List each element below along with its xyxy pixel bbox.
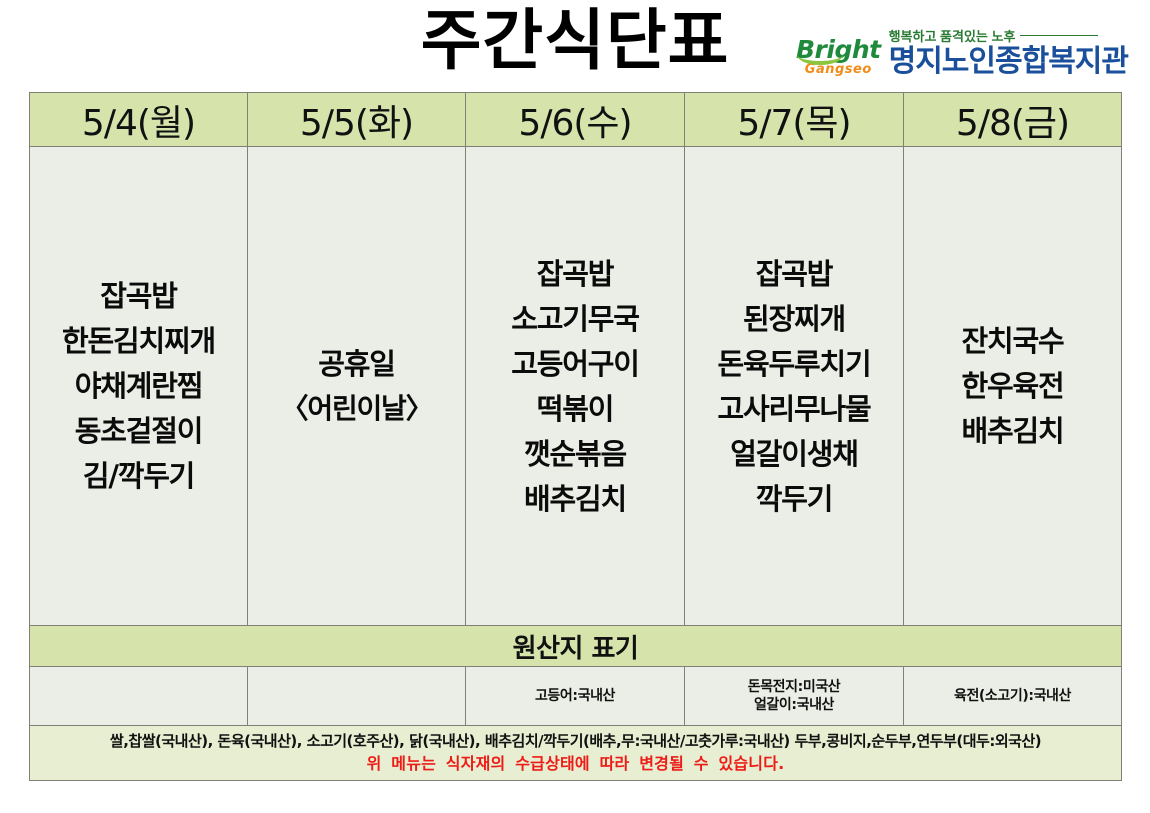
dish-item: 잡곡밥 (537, 257, 613, 291)
origin-cell-fri: 육전(소고기):국내산 (904, 667, 1122, 726)
menu-cell-wed: 잡곡밥 소고기무국 고등어구이 떡볶이 깻순볶음 배추김치 (466, 147, 685, 626)
dish-item: 동초겉절이 (75, 414, 202, 448)
day-header-wed: 5/6(수) (466, 93, 685, 147)
page-header: 주간식단표 Bright Gangseo 행복하고 품격있는 노후 명지노인종합… (0, 0, 1150, 92)
dish-item: 잡곡밥 (756, 257, 832, 291)
brand-divider-line (1020, 35, 1098, 36)
dish-item: 고등어구이 (511, 347, 638, 381)
footer-notice: 위 메뉴는 식자재의 수급상태에 따라 변경될 수 있습니다. (30, 752, 1121, 776)
day-header-tue: 5/5(화) (248, 93, 466, 147)
dish-item: 돈육두루치기 (718, 347, 871, 381)
day-header-fri: 5/8(금) (904, 93, 1122, 147)
dish-item: 고사리무나물 (718, 392, 871, 426)
dish-item: 잔치국수 (962, 324, 1064, 358)
origin-cell-mon (30, 667, 248, 726)
dish-list-wed: 잡곡밥 소고기무국 고등어구이 떡볶이 깻순볶음 배추김치 (466, 257, 684, 516)
menu-cell-mon: 잡곡밥 한돈김치찌개 야채계란찜 동초겉절이 김/깍두기 (30, 147, 248, 626)
origin-line: 얼갈이:국내산 (685, 696, 903, 714)
origin-line: 고등어:국내산 (466, 687, 684, 705)
weekly-menu-table: 5/4(월) 5/5(화) 5/6(수) 5/7(목) 5/8(금) 잡곡밥 한… (29, 92, 1122, 781)
dish-list-thu: 잡곡밥 된장찌개 돈육두루치기 고사리무나물 얼갈이생채 깍두기 (685, 257, 903, 516)
menu-cell-fri: 잔치국수 한우육전 배추김치 (904, 147, 1122, 626)
dish-item: 떡볶이 (537, 392, 613, 426)
dish-item: 한돈김치찌개 (62, 324, 215, 358)
dish-item: 된장찌개 (743, 302, 845, 336)
bright-logo-mark: Bright Gangseo (796, 37, 881, 78)
dish-item: 김/깍두기 (83, 459, 194, 493)
day-header-row: 5/4(월) 5/5(화) 5/6(수) 5/7(목) 5/8(금) (30, 93, 1122, 147)
brand-slogan-row: 행복하고 품격있는 노후 (889, 26, 1128, 45)
dish-item: 깍두기 (756, 482, 832, 516)
dish-item: 야채계란찜 (75, 369, 202, 403)
origin-cell-tue (248, 667, 466, 726)
day-header-thu: 5/7(목) (685, 93, 904, 147)
origin-line: 육전(소고기):국내산 (904, 687, 1121, 705)
dish-list-mon: 잡곡밥 한돈김치찌개 야채계란찜 동초겉절이 김/깍두기 (30, 279, 247, 493)
dish-item: 한우육전 (962, 369, 1064, 403)
holiday-label: 공휴일 (318, 347, 394, 381)
brand-slogan: 행복하고 품격있는 노후 (889, 26, 1016, 45)
day-header-mon: 5/4(월) (30, 93, 248, 147)
dish-list-tue: 공휴일 〈어린이날〉 (248, 347, 465, 426)
footer-row: 쌀,찹쌀(국내산), 돈육(국내산), 소고기(호주산), 닭(국내산), 배추… (30, 726, 1122, 781)
dish-item: 깻순볶음 (524, 437, 626, 471)
origin-section-title: 원산지 표기 (30, 626, 1122, 667)
holiday-name: 〈어린이날〉 (281, 392, 433, 426)
logo-gangseo-text: Gangseo (805, 63, 872, 76)
dish-item: 배추김치 (524, 482, 626, 516)
dish-list-fri: 잔치국수 한우육전 배추김치 (904, 324, 1121, 448)
origin-detail-row: 고등어:국내산 돈목전지:미국산 얼갈이:국내산 육전(소고기):국내산 (30, 667, 1122, 726)
dish-item: 배추김치 (962, 414, 1064, 448)
organization-name: 명지노인종합복지관 (889, 46, 1128, 78)
origin-cell-thu: 돈목전지:미국산 얼갈이:국내산 (685, 667, 904, 726)
dish-item: 잡곡밥 (100, 279, 176, 313)
menu-cell-thu: 잡곡밥 된장찌개 돈육두루치기 고사리무나물 얼갈이생채 깍두기 (685, 147, 904, 626)
origin-title-row: 원산지 표기 (30, 626, 1122, 667)
origin-line: 돈목전지:미국산 (685, 678, 903, 696)
footer-cell: 쌀,찹쌀(국내산), 돈육(국내산), 소고기(호주산), 닭(국내산), 배추… (30, 726, 1122, 781)
dish-item: 얼갈이생채 (730, 437, 857, 471)
footer-origin-summary: 쌀,찹쌀(국내산), 돈육(국내산), 소고기(호주산), 닭(국내산), 배추… (30, 730, 1121, 752)
brand-text-block: 행복하고 품격있는 노후 명지노인종합복지관 (889, 26, 1128, 78)
menu-cell-tue: 공휴일 〈어린이날〉 (248, 147, 466, 626)
origin-cell-wed: 고등어:국내산 (466, 667, 685, 726)
menu-row: 잡곡밥 한돈김치찌개 야채계란찜 동초겉절이 김/깍두기 공휴일 〈어린이날〉 … (30, 147, 1122, 626)
dish-item: 소고기무국 (511, 302, 638, 336)
organization-logo: Bright Gangseo 행복하고 품격있는 노후 명지노인종합복지관 (796, 26, 1128, 78)
